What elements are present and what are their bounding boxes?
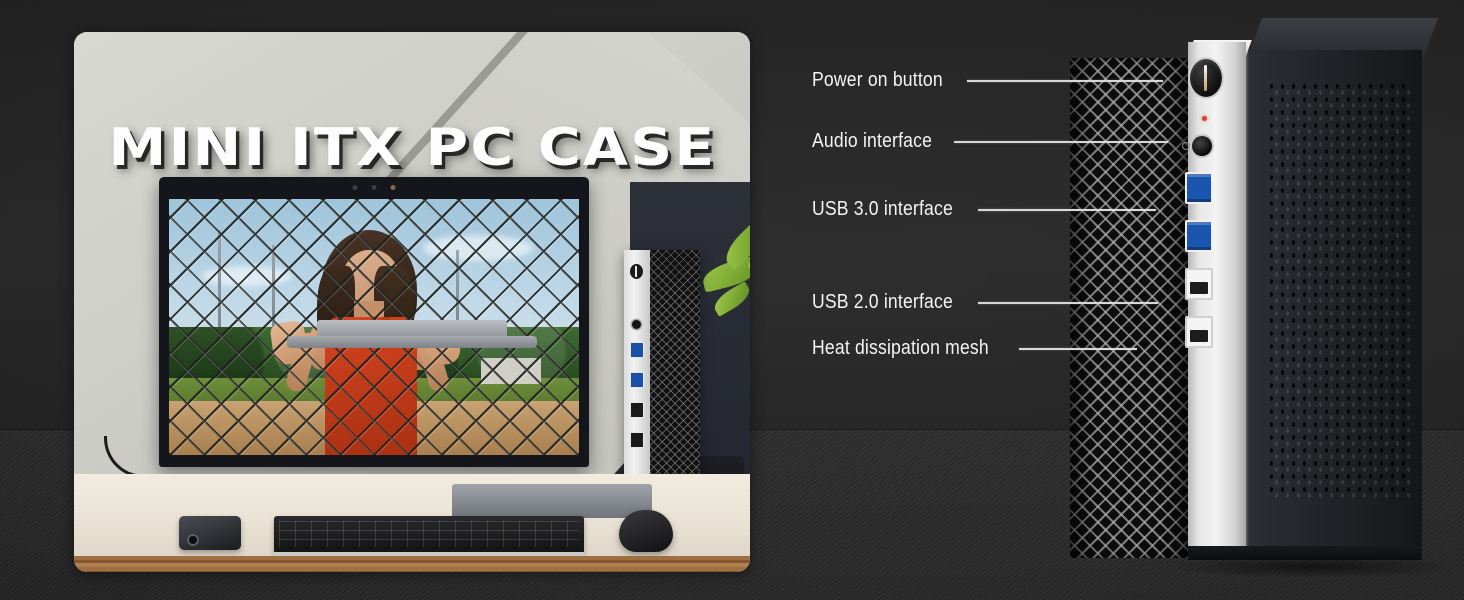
usb-2-0-port[interactable] xyxy=(1185,316,1213,348)
callout-label: USB 3.0 interface xyxy=(812,198,953,221)
callout-leader-line xyxy=(978,209,1156,211)
potted-plant xyxy=(694,228,750,358)
callout-leader-line xyxy=(954,141,1168,143)
monitor-base xyxy=(287,336,537,348)
case-perforation-highlights xyxy=(1271,86,1411,506)
callout-label: Heat dissipation mesh xyxy=(812,337,989,360)
usb-2-port-icon xyxy=(630,402,644,418)
usb-2-port-icon xyxy=(630,432,644,448)
webcam-sensor-icons xyxy=(353,185,396,190)
usb-3-0-port[interactable] xyxy=(1185,220,1213,252)
audio-jack-icon xyxy=(632,320,641,329)
usb-2-0-port[interactable] xyxy=(1185,268,1213,300)
mouse xyxy=(619,510,673,552)
callout-1: Audio interface xyxy=(812,130,1168,153)
usb-3-port-icon xyxy=(630,372,644,388)
power-led-icon xyxy=(1202,116,1207,121)
usb-3-0-port[interactable] xyxy=(1185,172,1213,204)
desk-gadget xyxy=(179,516,241,550)
mini-case-mesh-panel xyxy=(650,250,700,498)
callout-label: Power on button xyxy=(812,69,943,92)
headphone-icon xyxy=(1182,142,1190,150)
mini-pc-case-in-photo xyxy=(624,250,700,498)
callout-label: USB 2.0 interface xyxy=(812,291,953,314)
callout-label: Audio interface xyxy=(812,130,932,153)
power-button[interactable] xyxy=(1190,59,1222,97)
callout-leader-line xyxy=(978,302,1158,304)
callout-leader-line xyxy=(967,80,1163,82)
audio-jack-port[interactable] xyxy=(1192,136,1212,156)
mini-case-io-strip xyxy=(624,250,650,498)
keyboard xyxy=(274,516,584,554)
case-floor-shadow xyxy=(1166,556,1456,578)
desk-plywood-edge xyxy=(74,556,750,572)
case-front-edge-highlight xyxy=(1246,50,1249,546)
callout-2: USB 3.0 interface xyxy=(812,198,1156,221)
callout-0: Power on button xyxy=(812,69,1163,92)
callout-leader-line xyxy=(1019,348,1137,350)
hero-photo: MINI ITX PC CASE xyxy=(74,32,750,572)
callout-3: USB 2.0 interface xyxy=(812,291,1158,314)
power-button-icon xyxy=(630,264,643,279)
usb-3-port-icon xyxy=(630,342,644,358)
callout-4: Heat dissipation mesh xyxy=(812,337,1137,360)
laptop xyxy=(452,484,652,518)
